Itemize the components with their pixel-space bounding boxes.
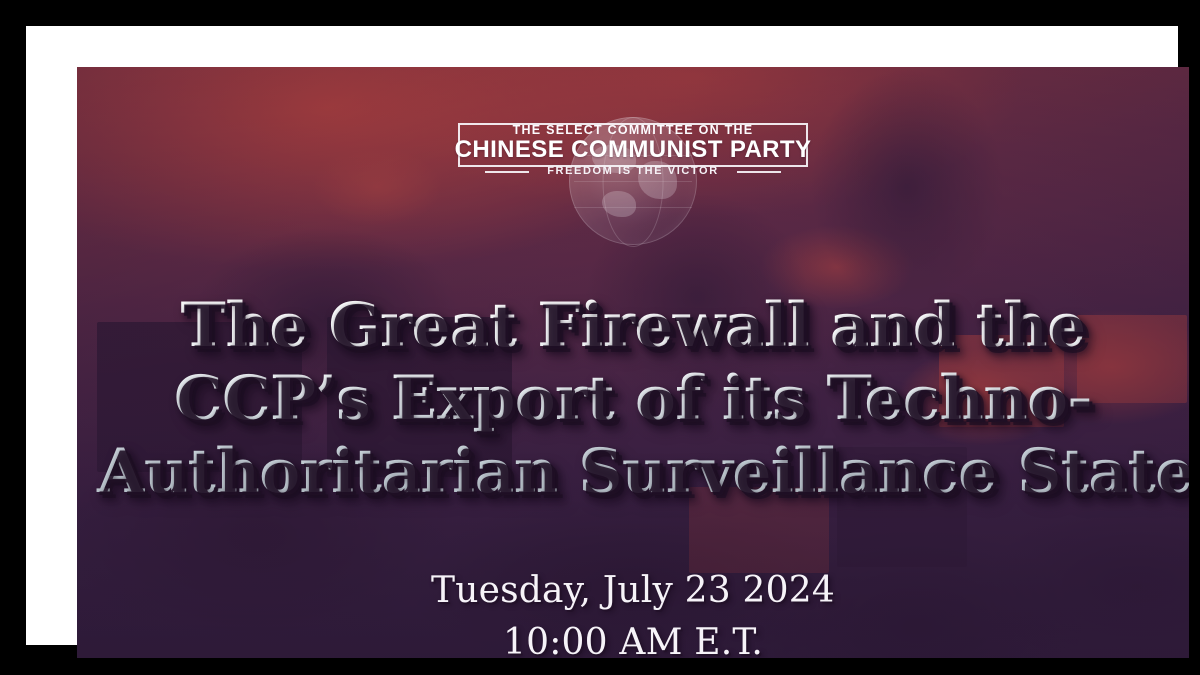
tagline-rule-right	[737, 171, 781, 173]
logo-tagline: FREEDOM IS THE VICTOR	[537, 165, 729, 177]
hearing-title: The Great Firewall and the CCP’s Export …	[77, 289, 1189, 508]
committee-logo-plate: THE SELECT COMMITTEE ON THE CHINESE COMM…	[458, 119, 808, 183]
event-date: Tuesday, July 23 2024	[77, 565, 1189, 617]
committee-logo: THE SELECT COMMITTEE ON THE CHINESE COMM…	[77, 119, 1189, 183]
logo-line-2: CHINESE COMMUNIST PARTY	[455, 137, 812, 163]
white-border-frame: THE SELECT COMMITTEE ON THE CHINESE COMM…	[26, 26, 1178, 645]
background-photo: THE SELECT COMMITTEE ON THE CHINESE COMM…	[77, 67, 1189, 658]
hearing-title-line-1: The Great Firewall and the	[97, 289, 1169, 362]
tagline-rule-left	[485, 171, 529, 173]
slide-canvas: THE SELECT COMMITTEE ON THE CHINESE COMM…	[0, 0, 1200, 675]
event-datetime: Tuesday, July 23 2024 10:00 AM E.T.	[77, 565, 1189, 658]
hearing-title-line-2: CCP’s Export of its Techno-	[97, 362, 1169, 435]
event-time: 10:00 AM E.T.	[77, 617, 1189, 658]
logo-line-1: THE SELECT COMMITTEE ON THE	[504, 123, 763, 137]
hearing-title-line-3: Authoritarian Surveillance State	[97, 435, 1169, 508]
